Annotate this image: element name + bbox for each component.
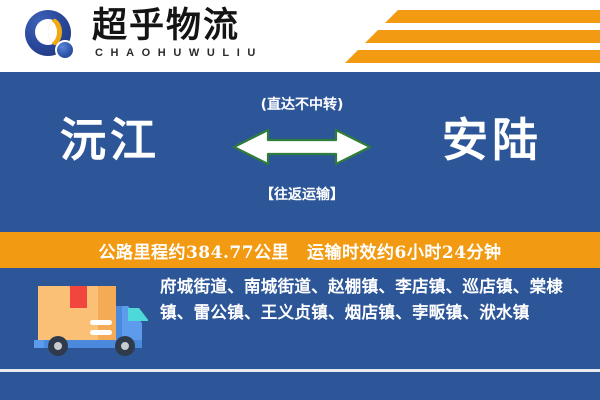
direct-shipping-label: (直达不中转) (232, 94, 372, 114)
stripe-3 (345, 50, 600, 63)
distance-duration-bar: 公路里程约384.77公里 运输时效约6小时24分钟 (0, 232, 600, 268)
stripe-2 (365, 30, 600, 43)
route-arrow-group: (直达不中转) 【往返运输】 (232, 94, 372, 204)
decorative-stripes (280, 10, 600, 66)
brand-name-cn: 超乎物流 (92, 6, 263, 46)
banner-header: 超乎物流 CHAOHUWULIU (0, 0, 600, 72)
brand-name-en: CHAOHUWULIU (92, 46, 263, 60)
logistics-route-banner: 超乎物流 CHAOHUWULIU 沅江 (直达不中转) 【往返运输】 安陆 公路… (0, 0, 600, 400)
origin-city: 沅江 (60, 112, 160, 168)
road-line (0, 369, 600, 372)
round-trip-label: 【往返运输】 (232, 184, 372, 204)
coverage-areas-text: 府城街道、南城街道、赵棚镇、李店镇、巡店镇、棠棣镇、雷公镇、王义贞镇、烟店镇、孛… (160, 274, 580, 326)
chaohu-circle-logo-icon (25, 10, 77, 62)
coverage-section: 府城街道、南城街道、赵棚镇、李店镇、巡店镇、棠棣镇、雷公镇、王义贞镇、烟店镇、孛… (0, 268, 600, 400)
bidirectional-arrow-icon (232, 126, 372, 168)
road-distance-text: 公路里程约384.77公里 (98, 238, 289, 263)
route-section: 沅江 (直达不中转) 【往返运输】 安陆 (0, 72, 600, 232)
delivery-truck-icon (28, 280, 148, 356)
transit-duration-text: 运输时效约6小时24分钟 (307, 238, 502, 263)
stripe-1 (385, 10, 600, 23)
destination-city: 安陆 (442, 112, 542, 168)
brand-block: 超乎物流 CHAOHUWULIU (92, 6, 263, 60)
logo-accent-dot (55, 40, 75, 60)
